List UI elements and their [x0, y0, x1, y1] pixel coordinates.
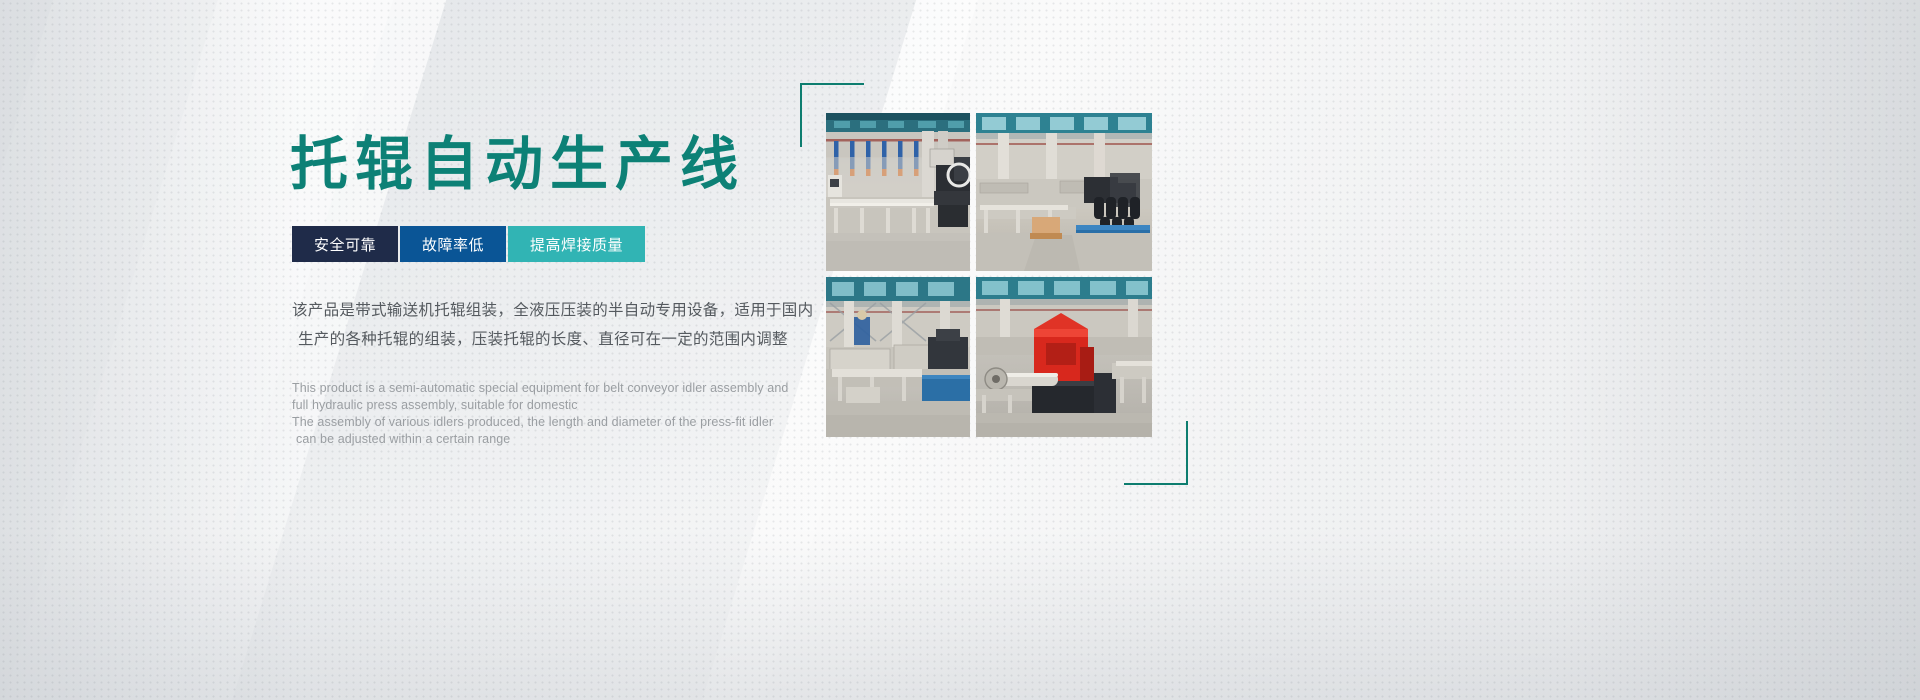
product-banner: 托辊自动生产线 安全可靠 故障率低 提高焊接质量 该产品是带式输送机托辊组装，全… — [0, 0, 1920, 700]
gallery-photo-4[interactable] — [976, 277, 1152, 437]
feature-tag-low-failure-rate[interactable]: 故障率低 — [400, 226, 506, 262]
description-chinese-line-1: 该产品是带式输送机托辊组装，全液压压装的半自动专用设备，适用于国内 — [292, 296, 762, 325]
feature-tag-list: 安全可靠 故障率低 提高焊接质量 — [292, 226, 810, 262]
description-english-line-1: This product is a semi-automatic special… — [292, 380, 762, 397]
gallery-photo-2[interactable] — [976, 113, 1152, 271]
feature-tag-safe-reliable[interactable]: 安全可靠 — [292, 226, 398, 262]
product-photo-gallery — [826, 113, 1152, 437]
feature-tag-improved-welding-quality[interactable]: 提高焊接质量 — [508, 226, 645, 262]
description-chinese-line-2: 生产的各种托辊的组装，压装托辊的长度、直径可在一定的范围内调整 — [292, 325, 762, 354]
description-english-line-4: can be adjusted within a certain range — [292, 431, 762, 448]
description-english: This product is a semi-automatic special… — [292, 380, 762, 448]
description-chinese: 该产品是带式输送机托辊组装，全液压压装的半自动专用设备，适用于国内 生产的各种托… — [292, 296, 762, 354]
description-english-line-2: full hydraulic press assembly, suitable … — [292, 397, 762, 414]
banner-text-block: 托辊自动生产线 安全可靠 故障率低 提高焊接质量 该产品是带式输送机托辊组装，全… — [290, 132, 810, 448]
description-english-line-3: The assembly of various idlers produced,… — [292, 414, 762, 431]
gallery-photo-1[interactable] — [826, 113, 970, 271]
page-title: 托辊自动生产线 — [290, 132, 810, 198]
background-bottom-shade — [0, 530, 1920, 700]
gallery-photo-3[interactable] — [826, 277, 970, 437]
